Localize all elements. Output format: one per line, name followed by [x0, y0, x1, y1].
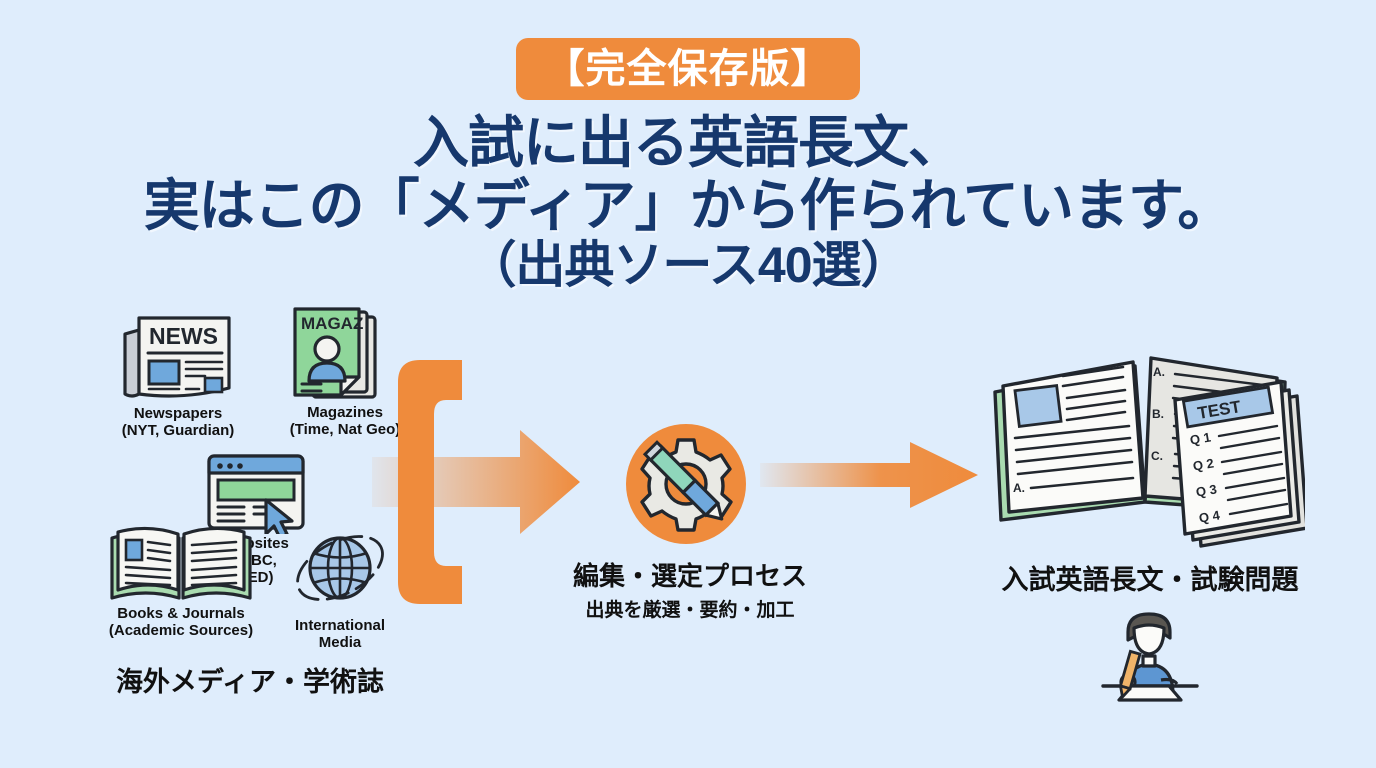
newspaper-masthead-text: NEWS: [149, 323, 218, 349]
source-label-newspapers: Newspapers (NYT, Guardian): [108, 406, 248, 440]
source-item-newspapers: NEWS Newspapers (NYT, Guardian): [108, 308, 248, 440]
open-textbook-and-test-papers-icon: A. A. B. C. TEST Q 1 Q 2 Q 3 Q 4: [985, 352, 1305, 562]
magazine-cover-text: MAGAZ: [301, 314, 363, 333]
book-marker-c: C.: [1151, 449, 1163, 463]
book-marker-a2: A.: [1013, 481, 1025, 495]
source-item-books: Books & Journals (Academic Sources): [96, 522, 266, 640]
process-labels: 編集・選定プロセス 出典を厳選・要約・加工: [520, 556, 860, 622]
title-line-3: （出典ソース40選）: [0, 237, 1376, 293]
status-badge: 【完全保存版】: [516, 38, 860, 100]
title-line-1: 入試に出る英語長文、: [0, 112, 1376, 175]
gear-pencil-icon: [626, 424, 746, 544]
page-title: 入試に出る英語長文、 実はこの「メディア」から作られています。 （出典ソース40…: [0, 112, 1376, 293]
newspaper-icon: NEWS: [119, 308, 237, 404]
process-circle: [626, 424, 746, 544]
output-label: 入試英語長文・試験問題: [940, 558, 1360, 597]
process-main-label: 編集・選定プロセス: [520, 556, 860, 593]
arrow-right-icon: [760, 440, 980, 510]
badge-label: 【完全保存版】: [545, 49, 832, 89]
poster-canvas: 【完全保存版】 入試に出る英語長文、 実はこの「メディア」から作られています。 …: [0, 0, 1376, 768]
source-label-books: Books & Journals (Academic Sources): [96, 606, 266, 640]
title-line-2: 実はこの「メディア」から作られています。: [0, 175, 1376, 238]
book-marker-b: B.: [1152, 407, 1164, 421]
source-label-international: International Media: [280, 618, 400, 652]
book-marker-a: A.: [1153, 365, 1165, 379]
sources-group-heading: 海外メディア・学術誌: [95, 660, 405, 699]
process-node: [626, 424, 746, 544]
student-writing-icon: [1095, 608, 1205, 704]
process-sub-label: 出典を厳選・要約・加工: [520, 595, 860, 622]
open-book-icon: [106, 522, 256, 604]
